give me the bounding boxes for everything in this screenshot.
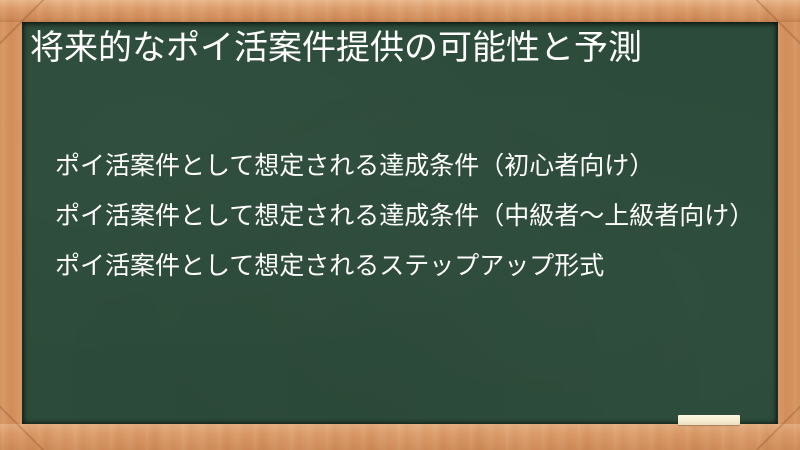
slide-title: 将来的なポイ活案件提供の可能性と予測	[30, 26, 746, 71]
list-item: ポイ活案件として想定される達成条件（中級者〜上級者向け）	[55, 198, 755, 234]
chalk-piece	[678, 415, 740, 425]
wood-bottom-tray	[0, 424, 800, 450]
list-item: ポイ活案件として想定される達成条件（初心者向け）	[55, 148, 755, 184]
list-item: ポイ活案件として想定されるステップアップ形式	[55, 248, 755, 284]
chalkboard-slide: 将来的なポイ活案件提供の可能性と予測 ポイ活案件として想定される達成条件（初心者…	[0, 0, 800, 450]
slide-bullet-list: ポイ活案件として想定される達成条件（初心者向け） ポイ活案件として想定される達成…	[55, 148, 755, 284]
wood-top-rail	[0, 0, 800, 22]
chalkboard-surface: 将来的なポイ活案件提供の可能性と予測 ポイ活案件として想定される達成条件（初心者…	[22, 22, 778, 424]
